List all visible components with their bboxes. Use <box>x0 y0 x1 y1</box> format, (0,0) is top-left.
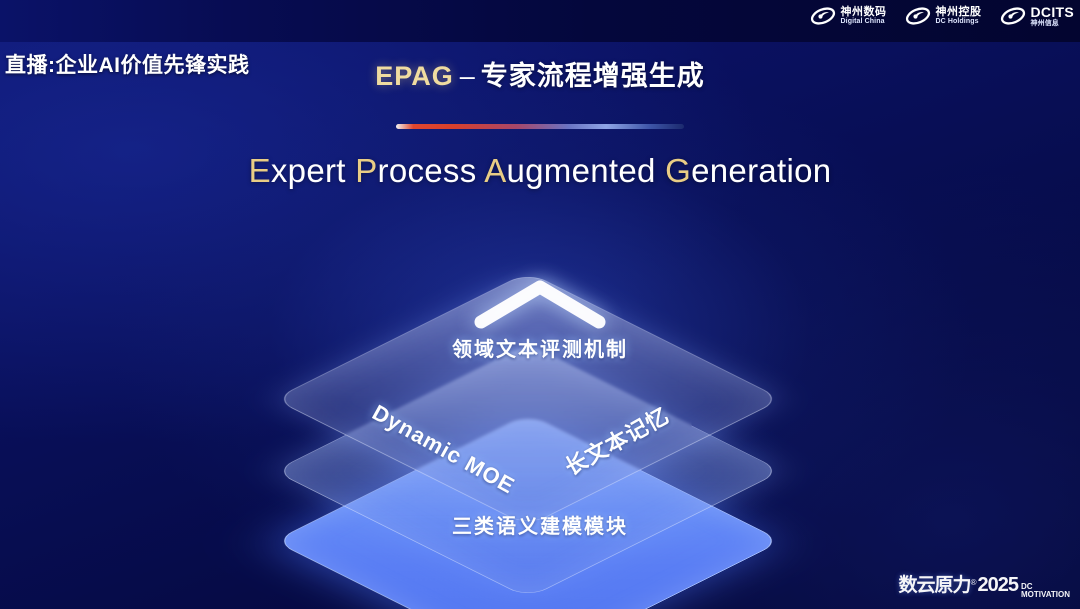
gradient-divider <box>396 124 684 129</box>
english-word-1-rest: xpert <box>271 152 346 189</box>
headline-dash: – <box>460 61 475 91</box>
layer-label-top: 领域文本评测机制 <box>0 333 1080 362</box>
watermark-year: 2025 <box>977 574 1018 597</box>
logo-digital-china-cn: 神州数码 <box>841 7 887 19</box>
logo-dcits-en: DCITS <box>1031 5 1075 20</box>
english-word-4-rest: eneration <box>691 152 831 189</box>
logo-dc-holdings-cn: 神州控股 <box>936 7 982 19</box>
english-title: Expert Process Augmented Generation <box>0 152 1080 190</box>
english-word-3-rest: ugmented <box>507 152 656 189</box>
brand-watermark-bottom-right: 数云原力®2025 DC MOTIVATION <box>899 574 1070 601</box>
watermark-name-cn: 数云原力 <box>899 575 971 596</box>
logo-dc-holdings-text: 神州控股 DC Holdings <box>936 7 982 26</box>
logo-dc-holdings-en: DC Holdings <box>936 18 982 25</box>
logo-dcits: DCITS 神州信息 <box>1000 4 1075 28</box>
swirl-logo-icon <box>1000 4 1026 28</box>
swirl-logo-icon <box>905 4 931 28</box>
partner-logos: 神州数码 Digital China 神州控股 DC Holdings <box>810 4 1075 28</box>
english-word-3-cap: A <box>484 152 506 189</box>
logo-digital-china-text: 神州数码 Digital China <box>841 7 887 26</box>
english-word-1-cap: E <box>249 152 271 189</box>
english-word-2-rest: rocess <box>378 152 477 189</box>
layer-stack-diagram <box>278 233 798 553</box>
english-word-2-cap: P <box>355 152 377 189</box>
layer-label-bottom: 三类语义建模模块 <box>0 510 1080 539</box>
watermark-registered-mark: ® <box>971 578 977 587</box>
watermark-dc-motivation: DC MOTIVATION <box>1021 583 1070 599</box>
logo-digital-china-en: Digital China <box>841 18 887 25</box>
logo-dcits-cn: 神州信息 <box>1031 20 1075 27</box>
slide-stage: 领域文本评测机制 Dynamic MOE 长文本记忆 三类语义建模模块 EPAG… <box>0 0 1080 609</box>
logo-dc-holdings: 神州控股 DC Holdings <box>905 4 982 28</box>
headline-chinese: 专家流程增强生成 <box>481 61 705 91</box>
live-subtitle: 直播:企业AI价值先锋实践 <box>5 49 250 79</box>
headline-acronym: EPAG <box>375 61 454 91</box>
logo-digital-china: 神州数码 Digital China <box>810 4 887 28</box>
swirl-logo-icon <box>810 4 836 28</box>
logo-dcits-text: DCITS 神州信息 <box>1031 5 1075 27</box>
diamond-top <box>273 272 782 527</box>
english-word-4-cap: G <box>665 152 691 189</box>
diagram-layer-top[interactable] <box>348 219 728 599</box>
watermark-dc-line2: MOTIVATION <box>1021 591 1070 599</box>
